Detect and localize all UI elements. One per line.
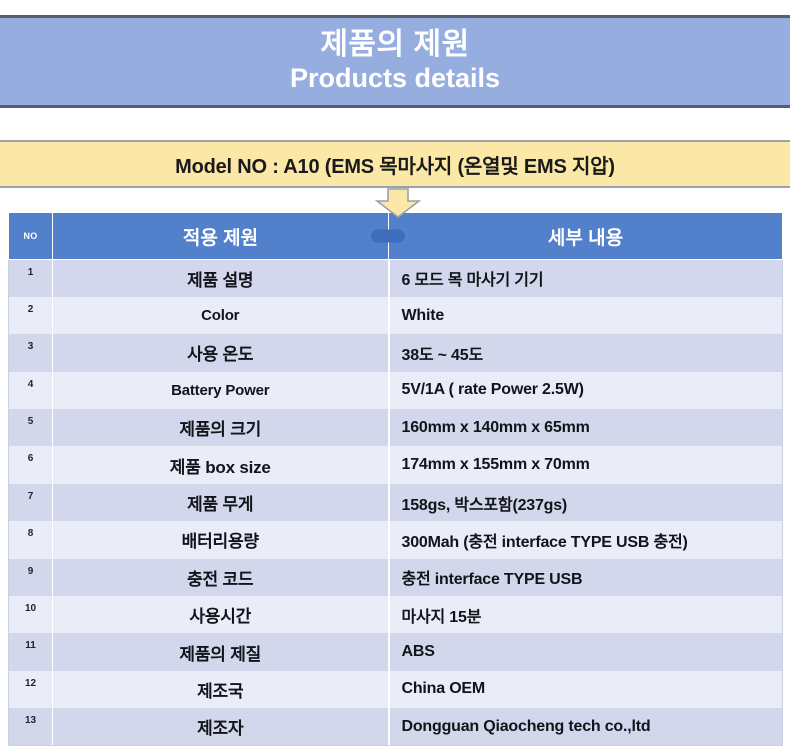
page-title-korean: 제품의 제원 xyxy=(320,28,469,61)
cell-spec-item: 제품 설명 xyxy=(53,260,389,297)
table-row: 12제조국China OEM xyxy=(9,671,783,708)
cell-spec-item: 제품 무게 xyxy=(53,484,389,521)
table-row: 8배터리용량300Mah (충전 interface TYPE USB 충전) xyxy=(9,521,783,558)
cell-spec-item: 제조자 xyxy=(53,708,389,745)
cell-spec-detail: China OEM xyxy=(389,671,783,708)
cell-row-number: 1 xyxy=(9,260,53,297)
cell-row-number: 10 xyxy=(9,596,53,633)
cell-spec-item: Battery Power xyxy=(53,372,389,409)
table-row: 10사용시간마사지 15분 xyxy=(9,596,783,633)
column-header-no: NO xyxy=(9,213,53,260)
table-row: 2ColorWhite xyxy=(9,297,783,334)
cell-spec-item: 제품 box size xyxy=(53,446,389,483)
cell-spec-item: 배터리용량 xyxy=(53,521,389,558)
cell-row-number: 6 xyxy=(9,446,53,483)
product-spec-page: 제품의 제원 Products details Model NO : A10 (… xyxy=(0,0,790,753)
table-row: 7제품 무게158gs, 박스포함(237gs) xyxy=(9,484,783,521)
cell-spec-detail: 38도 ~ 45도 xyxy=(389,334,783,371)
table-row: 13제조자Dongguan Qiaocheng tech co.,ltd xyxy=(9,708,783,745)
cell-row-number: 2 xyxy=(9,297,53,334)
table-bottom-edge xyxy=(8,745,782,746)
cell-row-number: 11 xyxy=(9,633,53,670)
cell-spec-item: 충전 코드 xyxy=(53,559,389,596)
cell-spec-detail: 충전 interface TYPE USB xyxy=(389,559,783,596)
cell-row-number: 9 xyxy=(9,559,53,596)
table-row: 1제품 설명6 모드 목 마사기 기기 xyxy=(9,260,783,297)
table-row: 3사용 온도38도 ~ 45도 xyxy=(9,334,783,371)
cell-spec-detail: 160mm x 140mm x 65mm xyxy=(389,409,783,446)
table-row: 11제품의 제질ABS xyxy=(9,633,783,670)
product-spec-table: NO 적용 제원 세부 내용 1제품 설명6 모드 목 마사기 기기2Color… xyxy=(8,212,783,746)
page-title-banner: 제품의 제원 Products details xyxy=(0,15,790,108)
table-header-row: NO 적용 제원 세부 내용 xyxy=(9,213,783,260)
cell-row-number: 7 xyxy=(9,484,53,521)
cell-spec-detail: Dongguan Qiaocheng tech co.,ltd xyxy=(389,708,783,745)
model-number-banner: Model NO : A10 (EMS 목마사지 (온열및 EMS 지압) xyxy=(0,140,790,188)
arrow-down-icon xyxy=(375,188,421,218)
cell-row-number: 4 xyxy=(9,372,53,409)
cell-spec-item: Color xyxy=(53,297,389,334)
cell-spec-detail: 5V/1A ( rate Power 2.5W) xyxy=(389,372,783,409)
cell-row-number: 13 xyxy=(9,708,53,745)
table-body: 1제품 설명6 모드 목 마사기 기기2ColorWhite3사용 온도38도 … xyxy=(9,260,783,746)
cell-row-number: 12 xyxy=(9,671,53,708)
page-title-english: Products details xyxy=(290,63,500,94)
cell-spec-detail: 158gs, 박스포함(237gs) xyxy=(389,484,783,521)
table-header: NO 적용 제원 세부 내용 xyxy=(9,213,783,260)
cell-spec-detail: 마사지 15분 xyxy=(389,596,783,633)
cell-spec-detail: 6 모드 목 마사기 기기 xyxy=(389,260,783,297)
cell-spec-item: 사용 온도 xyxy=(53,334,389,371)
cell-spec-item: 제조국 xyxy=(53,671,389,708)
column-header-item: 적용 제원 xyxy=(53,213,389,260)
cell-spec-detail: ABS xyxy=(389,633,783,670)
cell-row-number: 3 xyxy=(9,334,53,371)
table-row: 4Battery Power5V/1A ( rate Power 2.5W) xyxy=(9,372,783,409)
cell-spec-detail: 300Mah (충전 interface TYPE USB 충전) xyxy=(389,521,783,558)
table-row: 6제품 box size174mm x 155mm x 70mm xyxy=(9,446,783,483)
cell-spec-item: 사용시간 xyxy=(53,596,389,633)
model-number-text: Model NO : A10 (EMS 목마사지 (온열및 EMS 지압) xyxy=(175,150,615,179)
table-row: 5제품의 크기160mm x 140mm x 65mm xyxy=(9,409,783,446)
column-header-item-label: 적용 제원 xyxy=(183,228,258,249)
table-row: 9충전 코드충전 interface TYPE USB xyxy=(9,559,783,596)
cell-spec-detail: 174mm x 155mm x 70mm xyxy=(389,446,783,483)
cell-spec-item: 제품의 제질 xyxy=(53,633,389,670)
cell-spec-detail: White xyxy=(389,297,783,334)
column-header-detail: 세부 내용 xyxy=(389,213,783,260)
cell-row-number: 5 xyxy=(9,409,53,446)
cell-row-number: 8 xyxy=(9,521,53,558)
cell-spec-item: 제품의 크기 xyxy=(53,409,389,446)
